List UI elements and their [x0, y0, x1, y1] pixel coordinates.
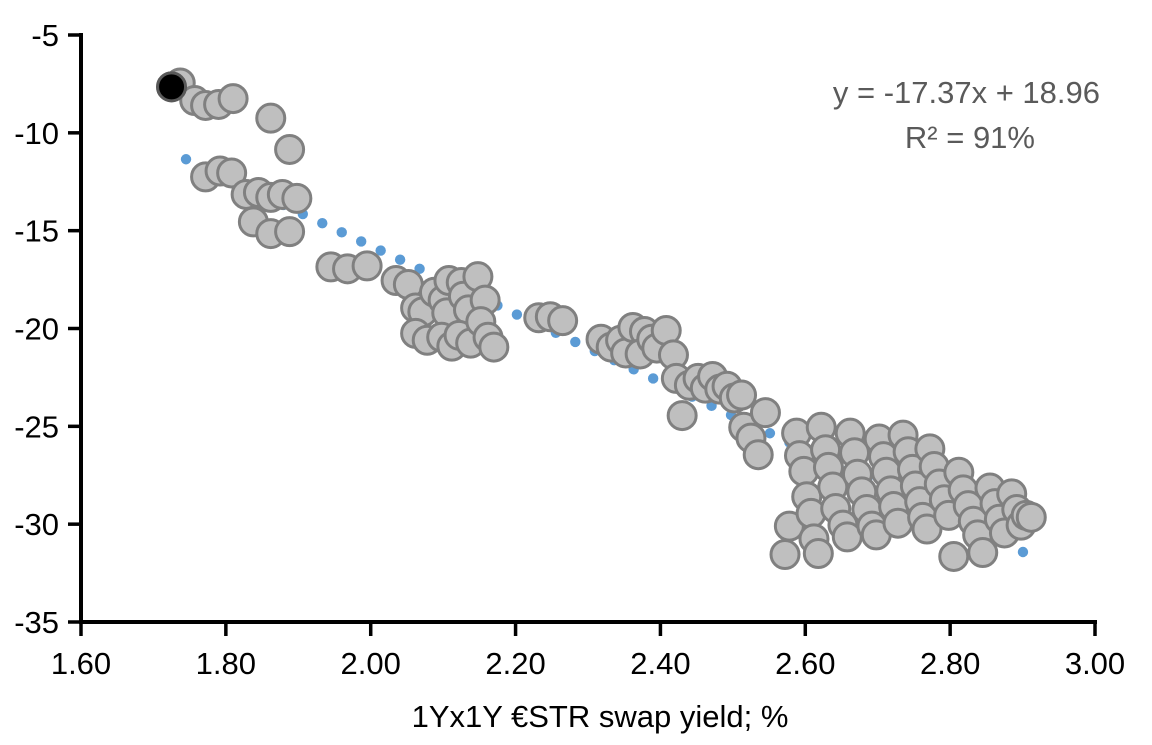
x-axis-tick-labels: 1.601.802.002.202.402.602.803.00	[51, 646, 1125, 681]
data-point	[728, 381, 756, 409]
y-tick-label: -15	[14, 214, 59, 249]
y-tick-label: -25	[14, 409, 59, 444]
y-tick-label: -35	[14, 605, 59, 640]
data-point	[283, 184, 311, 212]
data-point	[744, 441, 772, 469]
highlight-point	[158, 73, 186, 101]
x-tick-label: 2.00	[341, 646, 401, 681]
y-axis-tick-labels: -5-10-15-20-25-30-35	[14, 18, 59, 640]
trendline-dot	[395, 255, 405, 265]
data-point	[751, 399, 779, 427]
scatter-chart: -5-10-15-20-25-30-35 1.601.802.002.202.4…	[0, 0, 1152, 745]
trendline-dot	[181, 154, 191, 164]
trendline-dot	[356, 236, 366, 246]
x-tick-label: 1.80	[196, 646, 256, 681]
trendline-dot	[337, 227, 347, 237]
x-tick-label: 1.60	[51, 646, 111, 681]
data-point	[257, 104, 285, 132]
data-point	[668, 402, 696, 430]
data-point	[940, 542, 968, 570]
trendline-dot	[1018, 547, 1028, 557]
x-tick-label: 3.00	[1065, 646, 1125, 681]
x-tick-label: 2.80	[920, 646, 980, 681]
y-tick-label: -10	[14, 116, 59, 151]
y-tick-label: -20	[14, 312, 59, 347]
x-tick-label: 2.60	[775, 646, 835, 681]
data-point	[276, 135, 304, 163]
chart-canvas: -5-10-15-20-25-30-35 1.601.802.002.202.4…	[0, 0, 1152, 745]
trendline-dot	[512, 309, 522, 319]
trendline-dot	[648, 373, 658, 383]
trendline-dot	[570, 337, 580, 347]
x-axis-title: 1Yx1Y €STR swap yield; %	[412, 699, 789, 734]
y-tick-label: -30	[14, 507, 59, 542]
data-point	[797, 499, 825, 527]
data-point	[549, 307, 577, 335]
data-point	[219, 85, 247, 113]
data-point	[353, 252, 381, 280]
x-tick-label: 2.20	[485, 646, 545, 681]
highlighted-data-point	[158, 73, 186, 101]
data-point	[276, 218, 304, 246]
trendline-dot	[317, 218, 327, 228]
data-point	[804, 540, 832, 568]
data-point	[480, 333, 508, 361]
r-squared-label: R² = 91%	[905, 120, 1035, 155]
data-point	[771, 541, 799, 569]
data-point	[1017, 503, 1045, 531]
trendline-equation-label: y = -17.37x + 18.96	[833, 75, 1100, 110]
y-tick-label: -5	[31, 18, 59, 53]
x-tick-label: 2.40	[630, 646, 690, 681]
